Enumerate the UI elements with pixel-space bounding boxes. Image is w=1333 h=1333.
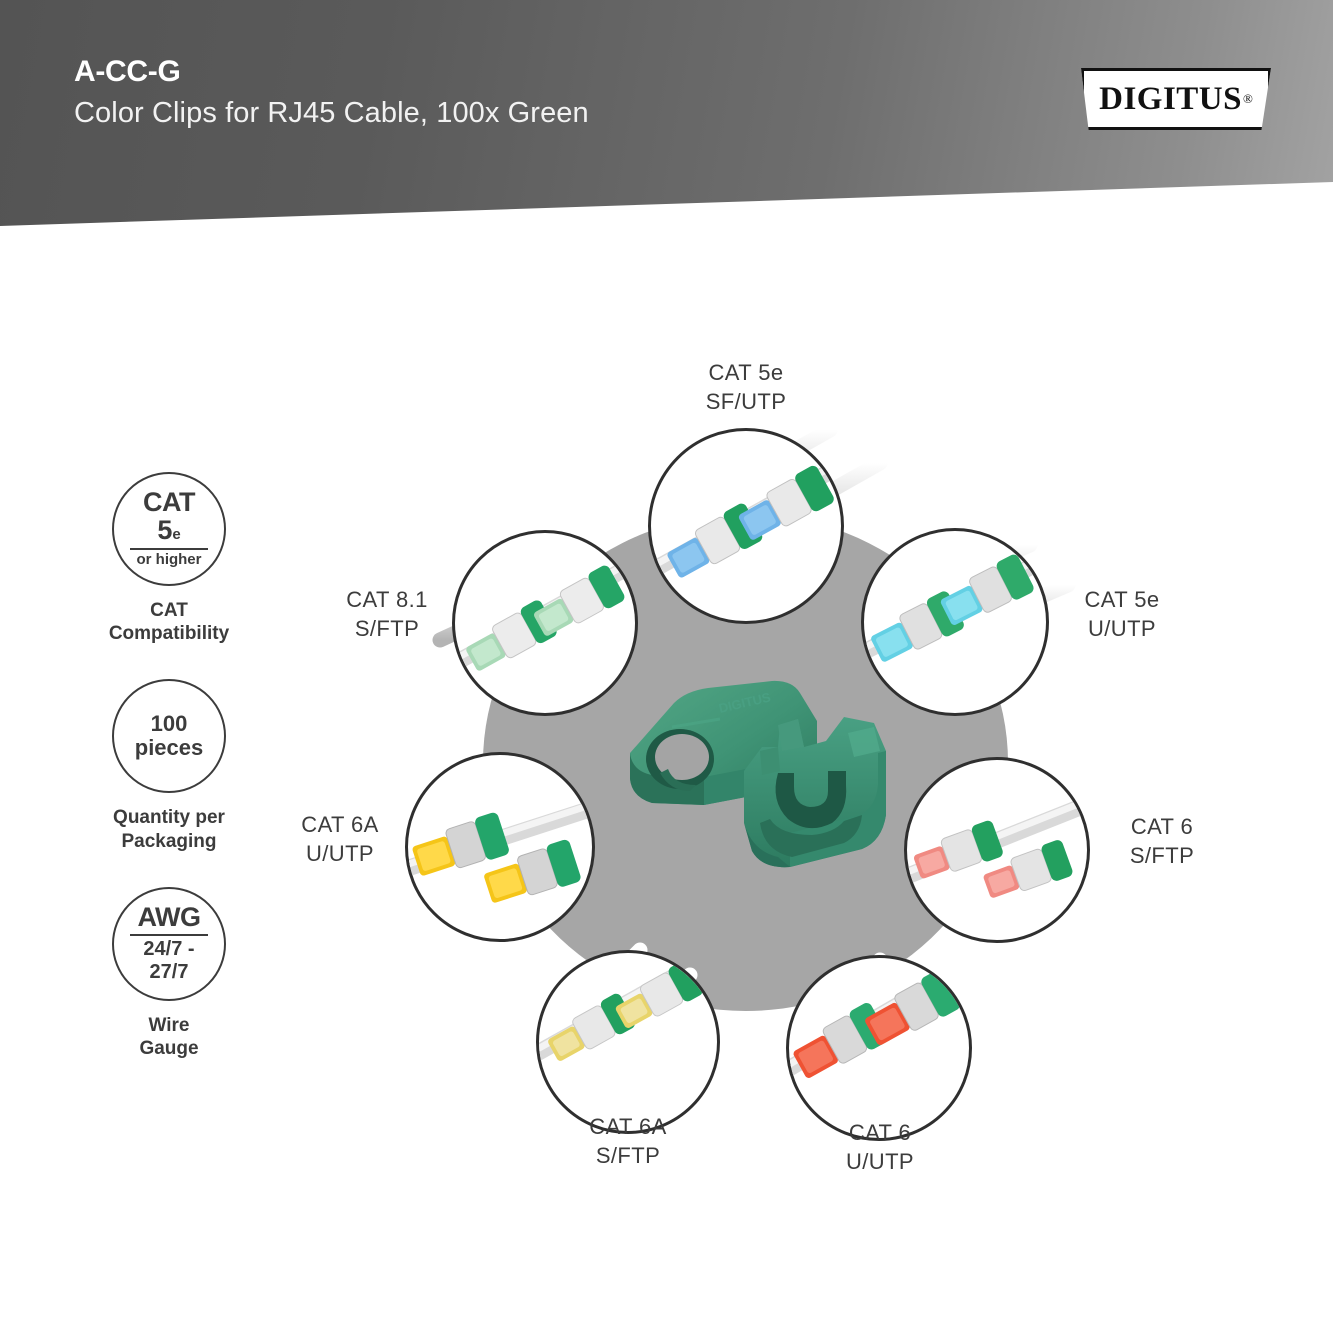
bubble-cat6-sftp[interactable] <box>904 757 1090 943</box>
badge-quantity-line2: pieces <box>135 736 204 761</box>
clip-illustration: DIGITUS <box>612 655 902 890</box>
label-line1: CAT 8.1 <box>322 585 452 614</box>
label-line2: U/UTP <box>1052 614 1192 643</box>
bubble-cat81-sftp[interactable] <box>452 530 638 716</box>
cable-cat81-sftp <box>455 533 635 713</box>
badge-cat-line2: 5e <box>157 516 180 544</box>
cable-cat6-uutp <box>789 958 969 1138</box>
label-line2: S/FTP <box>1098 841 1226 870</box>
bubble-label-cat81-sftp: CAT 8.1 S/FTP <box>322 585 452 643</box>
badge-cat-value: 5 <box>157 515 172 545</box>
color-clip-product: DIGITUS <box>612 655 902 890</box>
badge-cat-line1: CAT <box>143 489 195 516</box>
bubble-label-cat6-sftp: CAT 6 S/FTP <box>1098 812 1226 870</box>
badge-quantity: 100 pieces Quantity per Packaging <box>60 679 278 852</box>
clip-left: DIGITUS <box>630 681 817 811</box>
badge-awg-line3: 27/7 <box>150 961 189 983</box>
gray-backdrop-circle <box>483 514 1008 1011</box>
bubble-label-cat5e-uutp: CAT 5e U/UTP <box>1052 585 1192 643</box>
label-line2: S/FTP <box>322 614 452 643</box>
feature-badges: CAT 5e or higher CAT Compatibility 100 p… <box>60 472 278 1094</box>
logo-inner: DIGITUS® <box>1081 68 1271 130</box>
badge-caption-cat-line2: Compatibility <box>109 622 229 645</box>
logo-wordmark: DIGITUS <box>1099 81 1242 118</box>
bubble-label-cat6a-uutp: CAT 6A U/UTP <box>276 810 404 868</box>
badge-wire-gauge: AWG 24/7 - 27/7 Wire Gauge <box>60 887 278 1060</box>
clip-right <box>744 717 886 867</box>
page-header: A-CC-G Color Clips for RJ45 Cable, 100x … <box>0 0 1333 232</box>
badge-circle-quantity: 100 pieces <box>112 679 226 793</box>
bubble-cat6a-uutp[interactable] <box>405 752 595 942</box>
label-line1: CAT 5e <box>1052 585 1192 614</box>
cable-cat5e-sfutp <box>651 431 841 621</box>
registered-trademark-icon: ® <box>1243 91 1253 107</box>
header-text-block: A-CC-G Color Clips for RJ45 Cable, 100x … <box>74 56 589 133</box>
label-line1: CAT 6 <box>782 1118 978 1147</box>
badge-awg-line1: AWG <box>138 904 201 931</box>
bubble-label-cat5e-sfutp: CAT 5e SF/UTP <box>648 358 844 416</box>
badge-awg-line2: 24/7 - <box>143 938 194 960</box>
label-line2: SF/UTP <box>648 387 844 416</box>
badge-caption-quantity: Quantity per Packaging <box>113 806 225 852</box>
badge-divider <box>130 548 208 550</box>
badge-caption-quantity-line2: Packaging <box>113 830 225 853</box>
badge-circle-awg: AWG 24/7 - 27/7 <box>112 887 226 1001</box>
bubble-cat5e-uutp[interactable] <box>861 528 1049 716</box>
badge-circle-cat: CAT 5e or higher <box>112 472 226 586</box>
badge-divider <box>130 934 208 936</box>
bubble-label-cat6a-sftp: CAT 6A S/FTP <box>528 1112 728 1170</box>
label-line2: U/UTP <box>782 1147 978 1176</box>
cable-cat6-sftp <box>907 760 1087 940</box>
label-line1: CAT 6A <box>276 810 404 839</box>
badge-caption-awg: Wire Gauge <box>139 1014 198 1060</box>
badge-caption-cat-line1: CAT <box>109 599 229 622</box>
label-line1: CAT 6 <box>1098 812 1226 841</box>
badge-cat-line3: or higher <box>136 552 201 569</box>
badge-quantity-line1: 100 <box>151 712 188 737</box>
badge-cat-compatibility: CAT 5e or higher CAT Compatibility <box>60 472 278 645</box>
badge-caption-cat: CAT Compatibility <box>109 599 229 645</box>
badge-caption-awg-line2: Gauge <box>139 1037 198 1060</box>
digitus-logo: DIGITUS® <box>1081 68 1271 130</box>
cable-cat6a-sftp <box>539 953 717 1131</box>
product-title: Color Clips for RJ45 Cable, 100x Green <box>74 94 589 133</box>
label-line2: U/UTP <box>276 839 404 868</box>
cable-cat5e-uutp <box>864 531 1046 713</box>
bubble-cat6a-sftp[interactable] <box>536 950 720 1134</box>
cable-cat6a-uutp <box>408 755 592 939</box>
bubble-label-cat6-uutp: CAT 6 U/UTP <box>782 1118 978 1176</box>
label-line2: S/FTP <box>528 1141 728 1170</box>
badge-cat-suffix: e <box>172 526 180 543</box>
clip-emboss-label: DIGITUS <box>717 689 772 716</box>
badge-caption-quantity-line1: Quantity per <box>113 806 225 829</box>
product-code: A-CC-G <box>74 56 589 88</box>
bubble-cat5e-sfutp[interactable] <box>648 428 844 624</box>
label-line1: CAT 6A <box>528 1112 728 1141</box>
bubble-cat6-uutp[interactable] <box>786 955 972 1141</box>
label-line1: CAT 5e <box>648 358 844 387</box>
badge-caption-awg-line1: Wire <box>139 1014 198 1037</box>
